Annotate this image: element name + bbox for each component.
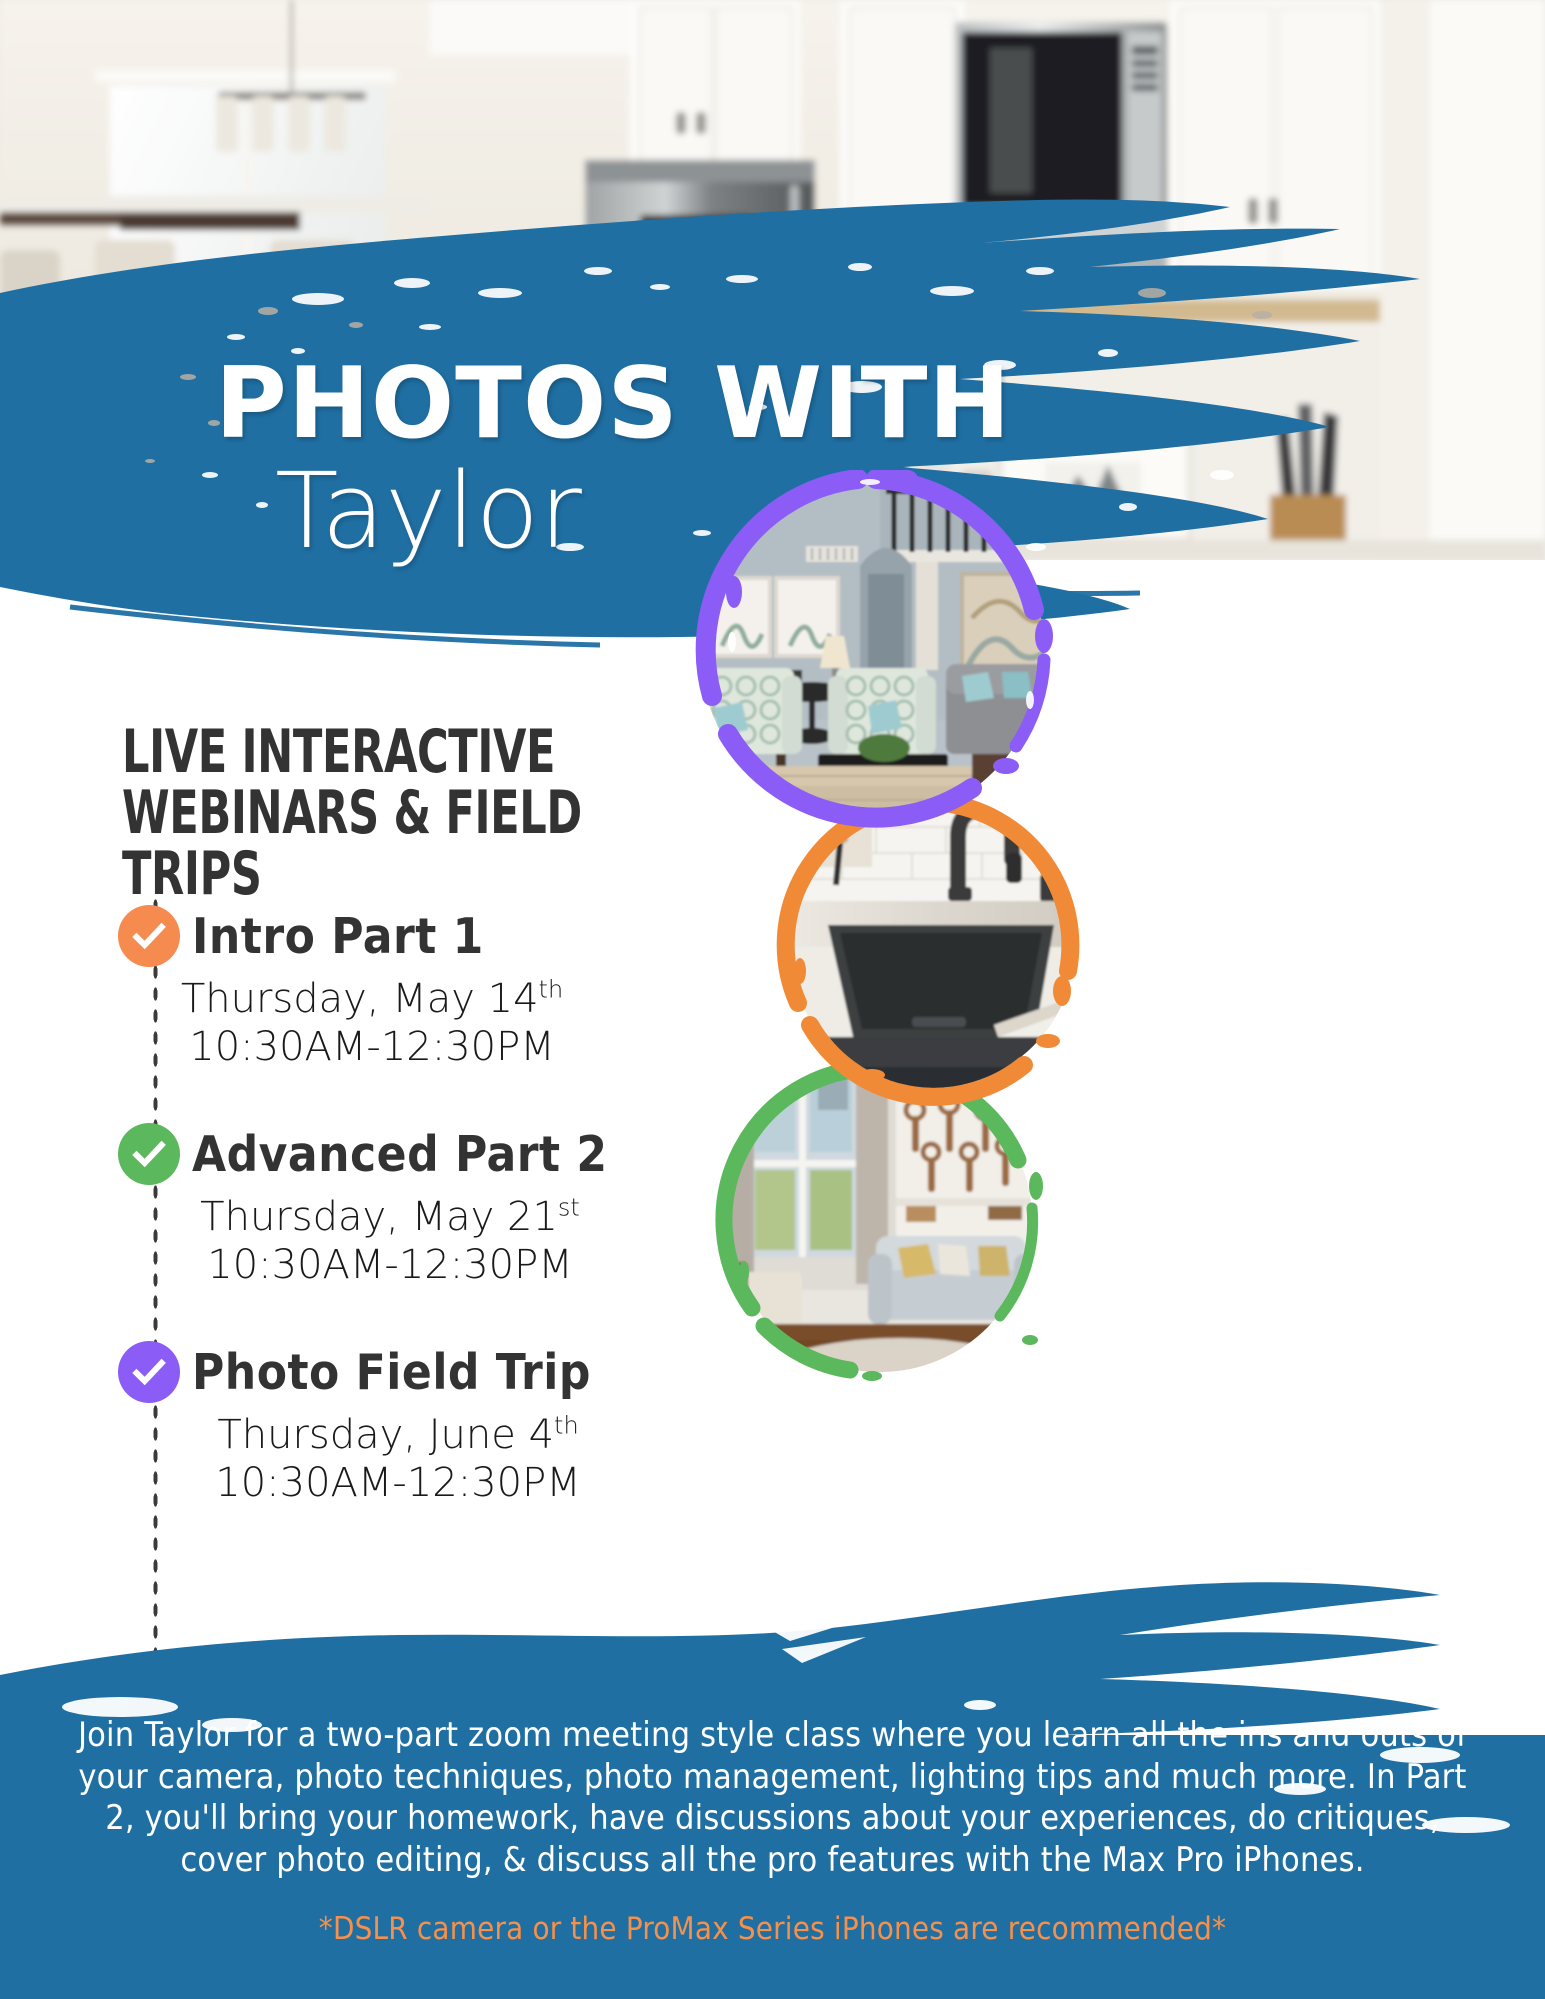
footer-description: Join Taylor for a two-part zoom meeting …: [72, 1715, 1473, 1881]
date-ordinal-suffix: th: [554, 1412, 579, 1440]
session-time: 10:30AM-12:30PM: [162, 1023, 582, 1071]
date-ordinal-suffix: st: [558, 1194, 580, 1222]
date-ordinal-suffix: th: [539, 976, 564, 1004]
session-list: Intro Part 1 Thursday, May 14th 10:30AM-…: [118, 905, 738, 1559]
living-room-photo: [672, 470, 1072, 830]
session-date: Thursday, May 21st: [180, 1193, 600, 1241]
session-header: Photo Field Trip: [118, 1341, 738, 1403]
session-header: Intro Part 1: [118, 905, 738, 967]
session-title: Photo Field Trip: [192, 1344, 591, 1401]
check-circle-icon: [118, 1341, 180, 1403]
page-title: PHOTOS WITH: [0, 355, 1100, 453]
flyer-canvas: PHOTOS WITH Taylor LIVE INTERACTIVE WEBI…: [0, 0, 1545, 1999]
session-time: 10:30AM-12:30PM: [188, 1459, 608, 1507]
check-circle-icon: [118, 1123, 180, 1185]
session-time: 10:30AM-12:30PM: [180, 1241, 600, 1289]
footer-equipment-note: *DSLR camera or the ProMax Series iPhone…: [72, 1911, 1473, 1947]
session-title: Intro Part 1: [192, 908, 484, 965]
session-date: Thursday, May 14th: [162, 975, 582, 1023]
list-item[interactable]: Intro Part 1 Thursday, May 14th 10:30AM-…: [118, 905, 738, 1071]
list-item[interactable]: Photo Field Trip Thursday, June 4th 10:3…: [118, 1341, 738, 1507]
session-schedule: Thursday, June 4th 10:30AM-12:30PM: [188, 1411, 608, 1507]
check-circle-icon: [118, 905, 180, 967]
list-item[interactable]: Advanced Part 2 Thursday, May 21st 10:30…: [118, 1123, 738, 1289]
section-heading: LIVE INTERACTIVE WEBINARS & FIELD TRIPS: [122, 722, 602, 906]
session-schedule: Thursday, May 21st 10:30AM-12:30PM: [180, 1193, 600, 1289]
session-title: Advanced Part 2: [192, 1126, 608, 1183]
session-schedule: Thursday, May 14th 10:30AM-12:30PM: [162, 975, 582, 1071]
session-header: Advanced Part 2: [118, 1123, 738, 1185]
session-date: Thursday, June 4th: [188, 1411, 608, 1459]
